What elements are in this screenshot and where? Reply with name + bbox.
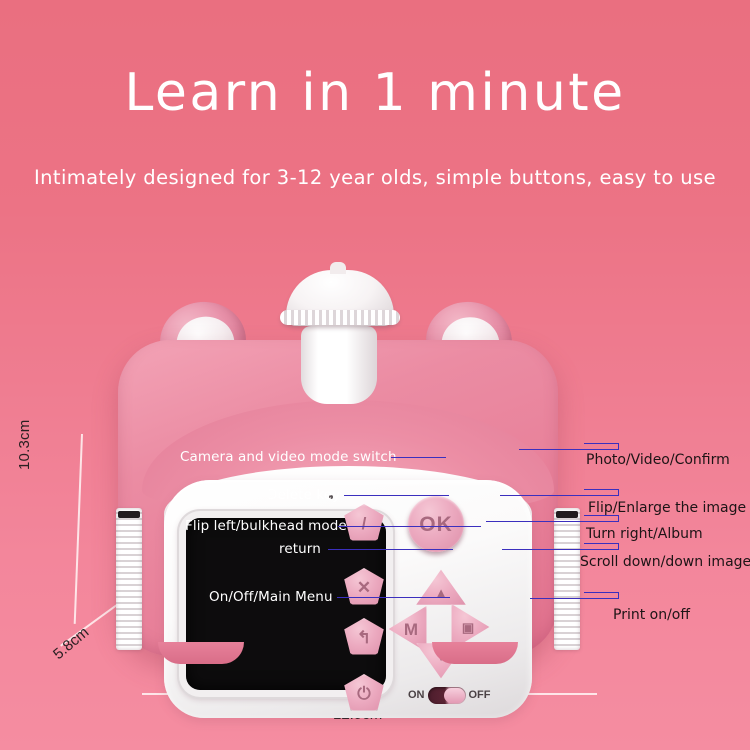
leader-line-delete-key (344, 495, 449, 496)
callout-photo-video-confirm: Photo/Video/Confirm (586, 452, 730, 468)
leader-line-flip-left (338, 526, 481, 527)
leader-line-print-onoff-top (584, 592, 619, 593)
leader-line-return (328, 549, 453, 550)
callout-layer: Camera and video mode switch Delete key … (0, 0, 750, 750)
leader-line-turn-right-album (486, 521, 618, 522)
leader-line-flip-enlarge (500, 495, 618, 496)
callout-delete-key: Delete key (267, 487, 340, 503)
callout-flip-enlarge: Flip/Enlarge the image (588, 500, 746, 516)
leader-line-scroll-down-top (584, 543, 619, 544)
callout-onoff-mainmenu: On/Off/Main Menu (209, 589, 333, 605)
callout-flip-left: Flip left/bulkhead mode (185, 518, 347, 534)
leader-line-camera-video-switch (391, 457, 446, 458)
leader-line-scroll-down (502, 549, 618, 550)
callout-print-onoff: Print on/off (613, 607, 690, 623)
callout-turn-right-album: Turn right/Album (586, 526, 703, 542)
leader-line-flip-enlarge-top (584, 489, 619, 490)
leader-line-turn-right-album-top (584, 515, 619, 516)
leader-line-photo-video-confirm-top (584, 443, 619, 444)
callout-return: return (279, 541, 321, 557)
leader-line-print-onoff (530, 598, 618, 599)
leader-line-photo-video-confirm (519, 449, 619, 450)
callout-scroll-down: Scroll down/down image (580, 554, 750, 570)
leader-line-onoff-mainmenu (337, 597, 450, 598)
callout-camera-video-switch: Camera and video mode switch (180, 449, 397, 465)
